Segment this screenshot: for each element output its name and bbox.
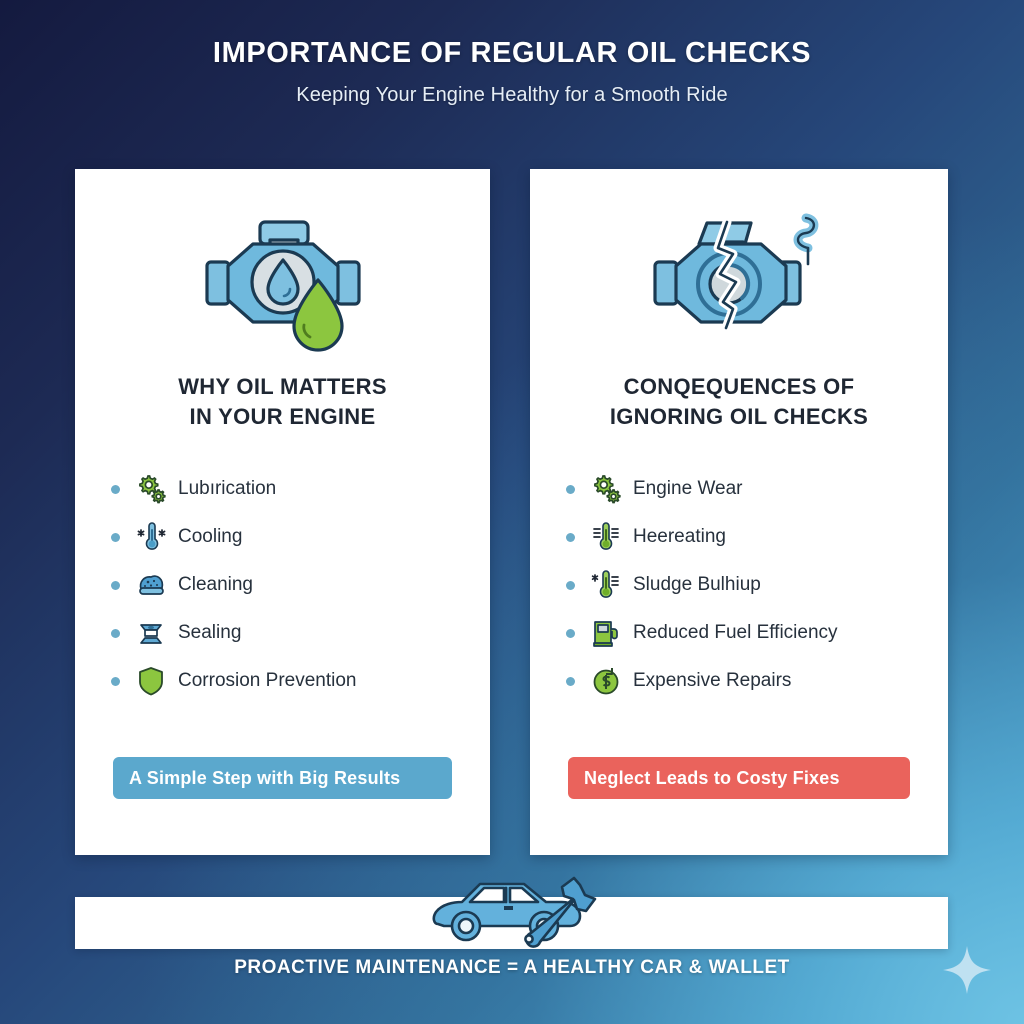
gears-icon — [589, 472, 623, 506]
list-item-label: Heereating — [633, 526, 726, 548]
cta-label: A Simple Step with Big Results — [129, 768, 400, 789]
list-item-label: Sludge Bulhiup — [633, 574, 761, 596]
shield-icon — [134, 664, 168, 698]
cta-label: Neglect Leads to Costy Fixes — [584, 768, 840, 789]
cta-banner-positive[interactable]: A Simple Step with Big Results — [113, 757, 452, 799]
list-item-label: Cooling — [178, 526, 242, 548]
benefits-list: Lubırication — [75, 465, 490, 705]
sparkle-icon — [941, 944, 993, 996]
list-item: Reduced Fuel Efficiency — [566, 609, 948, 657]
car-with-wrench-icon — [428, 868, 603, 950]
card-why-oil-matters: WHY OIL MATTERS IN YOUR ENGINE Lu — [75, 169, 490, 855]
thermometer-sludge-icon — [589, 568, 623, 602]
bullet-dot — [566, 533, 575, 542]
engine-oil-drop-icon — [75, 191, 490, 366]
gears-icon — [134, 472, 168, 506]
card-left-heading: WHY OIL MATTERS IN YOUR ENGINE — [75, 372, 490, 431]
list-item-label: Corrosion Prevention — [178, 670, 356, 692]
bullet-dot — [111, 581, 120, 590]
list-item: Cooling — [111, 513, 490, 561]
list-item: Sealing — [111, 609, 490, 657]
bullet-dot — [111, 629, 120, 638]
cleaning-sponge-icon — [134, 568, 168, 602]
money-coin-icon — [589, 664, 623, 698]
card-right-heading-line2: IGNORING OIL CHECKS — [530, 402, 948, 432]
thermometer-hot-icon — [589, 520, 623, 554]
list-item: Lubırication — [111, 465, 490, 513]
bullet-dot — [566, 629, 575, 638]
infographic-canvas: IMPORTANCE OF REGULAR OIL CHECKS Keeping… — [0, 0, 1024, 1024]
seal-gasket-icon — [134, 616, 168, 650]
bullet-dot — [566, 581, 575, 590]
card-consequences-of-ignoring: CONQEQUENCES OF IGNORING OIL CHECKS — [530, 169, 948, 855]
bullet-dot — [111, 677, 120, 686]
bullet-dot — [566, 485, 575, 494]
list-item-label: Reduced Fuel Efficiency — [633, 622, 838, 644]
card-left-heading-line1: WHY OIL MATTERS — [75, 372, 490, 402]
page-title: IMPORTANCE OF REGULAR OIL CHECKS — [0, 38, 1024, 70]
cracked-engine-smoke-icon — [530, 191, 948, 366]
bullet-dot — [111, 485, 120, 494]
list-item-label: Engine Wear — [633, 478, 743, 500]
list-item-label: Cleaning — [178, 574, 253, 596]
card-right-heading-line1: CONQEQUENCES OF — [530, 372, 948, 402]
cta-banner-negative[interactable]: Neglect Leads to Costy Fixes — [568, 757, 910, 799]
list-item: Corrosion Prevention — [111, 657, 490, 705]
list-item: Heereating — [566, 513, 948, 561]
list-item-label: Expensive Repairs — [633, 670, 791, 692]
list-item: Sludge Bulhiup — [566, 561, 948, 609]
card-left-heading-line2: IN YOUR ENGINE — [75, 402, 490, 432]
thermometer-cool-icon — [134, 520, 168, 554]
footer-tagline: PROACTIVE MAINTENANCE = A HEALTHY CAR & … — [0, 957, 1024, 979]
list-item: Expensive Repairs — [566, 657, 948, 705]
list-item-label: Lubırication — [178, 478, 276, 500]
list-item: Engine Wear — [566, 465, 948, 513]
bullet-dot — [111, 533, 120, 542]
fuel-pump-icon — [589, 616, 623, 650]
card-right-heading: CONQEQUENCES OF IGNORING OIL CHECKS — [530, 372, 948, 431]
list-item: Cleaning — [111, 561, 490, 609]
bullet-dot — [566, 677, 575, 686]
consequences-list: Engine Wear — [530, 465, 948, 705]
page-subtitle: Keeping Your Engine Healthy for a Smooth… — [0, 84, 1024, 107]
header: IMPORTANCE OF REGULAR OIL CHECKS Keeping… — [0, 38, 1024, 107]
list-item-label: Sealing — [178, 622, 241, 644]
